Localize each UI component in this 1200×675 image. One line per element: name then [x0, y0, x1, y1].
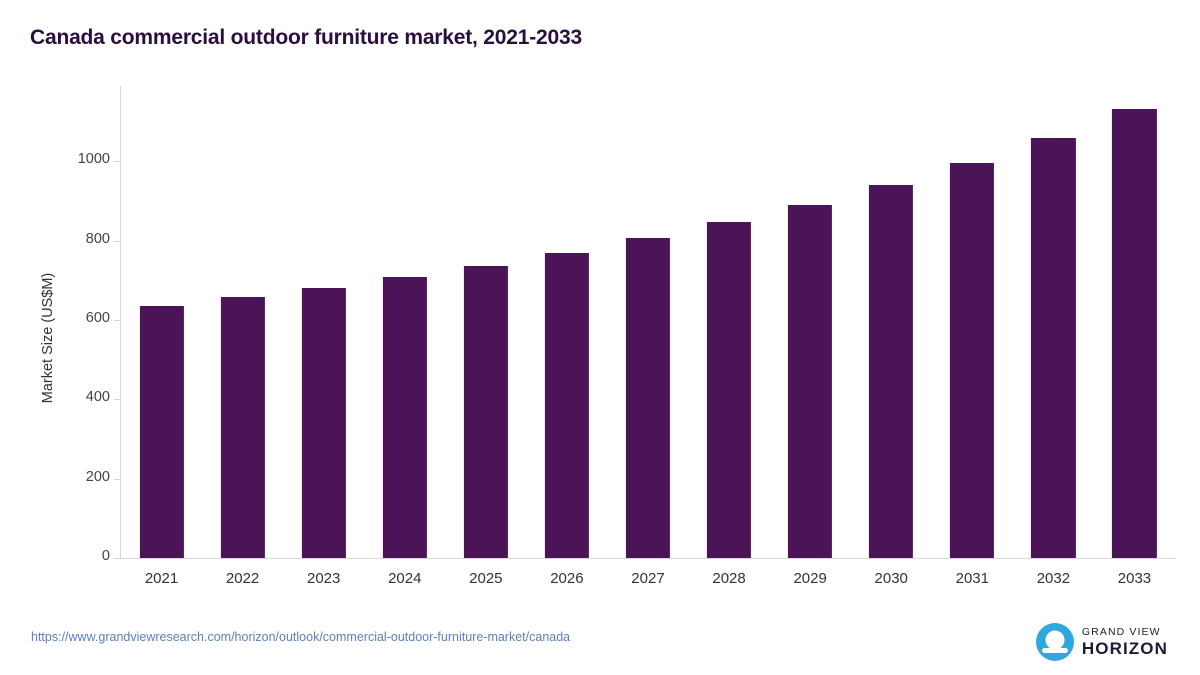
bar[interactable]: [1031, 138, 1075, 558]
y-tick-label: 800: [86, 231, 110, 247]
y-tick-label: 0: [102, 548, 110, 564]
bar[interactable]: [950, 163, 994, 558]
bar-slot: [932, 86, 1013, 558]
x-tick-label: 2029: [770, 570, 851, 587]
y-tick-mark: [114, 558, 120, 559]
x-tick-label: 2030: [851, 570, 932, 587]
y-tick-label: 200: [86, 469, 110, 485]
y-tick-label: 600: [86, 310, 110, 326]
source-url[interactable]: https://www.grandviewresearch.com/horizo…: [31, 630, 570, 644]
chart-page: Canada commercial outdoor furniture mark…: [0, 0, 1200, 675]
bar[interactable]: [464, 266, 508, 558]
x-tick-label: 2024: [364, 570, 445, 587]
x-tick-label: 2022: [202, 570, 283, 587]
x-tick-label: 2021: [121, 570, 202, 587]
x-tick-label: 2032: [1013, 570, 1094, 587]
y-tick-mark: [114, 399, 120, 400]
bar-slot: [689, 86, 770, 558]
logo-line-2: HORIZON: [1082, 640, 1168, 657]
logo-line-1: GRAND VIEW: [1082, 627, 1168, 638]
grand-view-horizon-logo-icon: [1036, 623, 1074, 661]
x-tick-label: 2026: [526, 570, 607, 587]
bar[interactable]: [788, 205, 832, 558]
x-tick-label: 2033: [1094, 570, 1175, 587]
y-tick-mark: [114, 320, 120, 321]
bar-slot: [526, 86, 607, 558]
y-tick-label: 1000: [78, 151, 110, 167]
logo-text: GRAND VIEW HORIZON: [1082, 627, 1168, 658]
bar-slot: [445, 86, 526, 558]
bar-slot: [121, 86, 202, 558]
bar[interactable]: [221, 297, 265, 558]
bar[interactable]: [1112, 109, 1156, 558]
bar[interactable]: [139, 306, 183, 558]
y-tick-mark: [114, 479, 120, 480]
bar-slot: [607, 86, 688, 558]
bar-slot: [283, 86, 364, 558]
x-tick-label: 2031: [932, 570, 1013, 587]
bar-slot: [1094, 86, 1175, 558]
bar-slot: [202, 86, 283, 558]
bar[interactable]: [869, 185, 913, 558]
bar-slot: [1013, 86, 1094, 558]
bar[interactable]: [626, 238, 670, 558]
bar[interactable]: [383, 277, 427, 558]
bar[interactable]: [545, 253, 589, 558]
bar-slot: [851, 86, 932, 558]
x-tick-label: 2027: [607, 570, 688, 587]
x-axis-line: [120, 558, 1175, 559]
logo[interactable]: GRAND VIEW HORIZON: [1036, 622, 1168, 662]
y-tick-label: 400: [86, 389, 110, 405]
plot-area: Market Size (US$M) 02004006008001000 202…: [0, 0, 1200, 675]
x-tick-label: 2025: [445, 570, 526, 587]
x-tick-label: 2023: [283, 570, 364, 587]
y-axis-label: Market Size (US$M): [40, 228, 56, 448]
y-tick-mark: [114, 161, 120, 162]
bar-series: [121, 86, 1175, 558]
bar-slot: [364, 86, 445, 558]
bar-slot: [770, 86, 851, 558]
x-tick-label: 2028: [689, 570, 770, 587]
y-tick-mark: [114, 241, 120, 242]
bar[interactable]: [302, 288, 346, 558]
bar[interactable]: [707, 222, 751, 558]
